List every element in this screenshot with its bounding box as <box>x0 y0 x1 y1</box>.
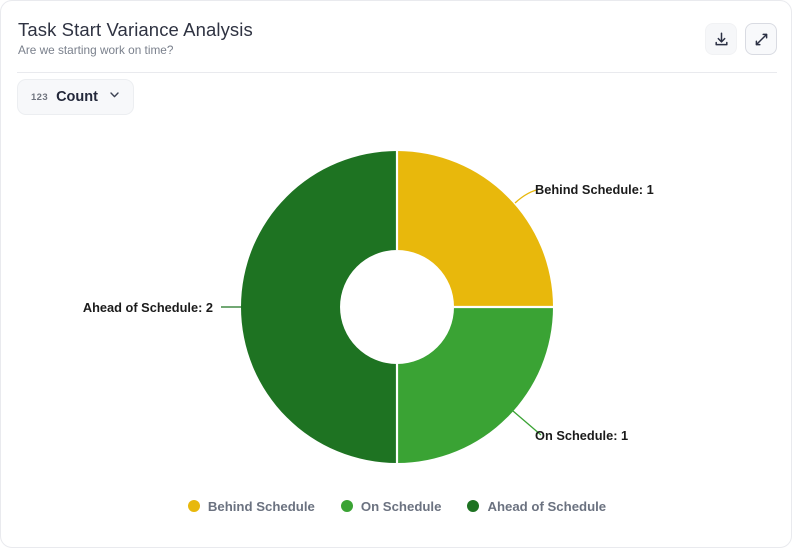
legend-item-behind-schedule[interactable]: Behind Schedule <box>188 499 315 514</box>
legend-label: Ahead of Schedule <box>487 499 606 514</box>
legend-label: On Schedule <box>361 499 442 514</box>
chevron-down-icon <box>108 88 121 106</box>
metric-select-value: Count <box>56 89 98 105</box>
download-button[interactable] <box>705 23 737 55</box>
slice-on-schedule[interactable] <box>397 307 553 463</box>
data-label-ahead-of-schedule: Ahead of Schedule: 2 <box>83 300 213 315</box>
page-subtitle: Are we starting work on time? <box>18 43 173 58</box>
slice-ahead-of-schedule[interactable] <box>241 151 397 463</box>
chart-legend: Behind Schedule On Schedule Ahead of Sch… <box>1 493 792 519</box>
legend-item-on-schedule[interactable]: On Schedule <box>341 499 442 514</box>
download-icon <box>713 31 730 48</box>
number-123-icon: 123 <box>31 92 48 103</box>
chart-card: Task Start Variance Analysis Are we star… <box>0 0 792 548</box>
header-divider <box>17 72 777 73</box>
legend-dot-icon <box>341 500 353 512</box>
data-label-behind-schedule: Behind Schedule: 1 <box>535 182 654 197</box>
donut-chart: Behind Schedule: 1 On Schedule: 1 Ahead … <box>1 119 792 489</box>
legend-label: Behind Schedule <box>208 499 315 514</box>
donut-chart-svg: Behind Schedule: 1 On Schedule: 1 Ahead … <box>1 119 792 489</box>
metric-select[interactable]: 123 Count <box>17 79 134 115</box>
expand-button[interactable] <box>745 23 777 55</box>
data-label-on-schedule: On Schedule: 1 <box>535 428 628 443</box>
legend-dot-icon <box>467 500 479 512</box>
card-header: Task Start Variance Analysis Are we star… <box>1 1 792 72</box>
legend-dot-icon <box>188 500 200 512</box>
control-row: 123 Count <box>17 79 134 115</box>
slice-behind-schedule[interactable] <box>397 151 553 307</box>
header-actions <box>705 23 777 55</box>
legend-item-ahead-of-schedule[interactable]: Ahead of Schedule <box>467 499 606 514</box>
page-title: Task Start Variance Analysis <box>18 18 253 42</box>
expand-icon <box>753 31 770 48</box>
